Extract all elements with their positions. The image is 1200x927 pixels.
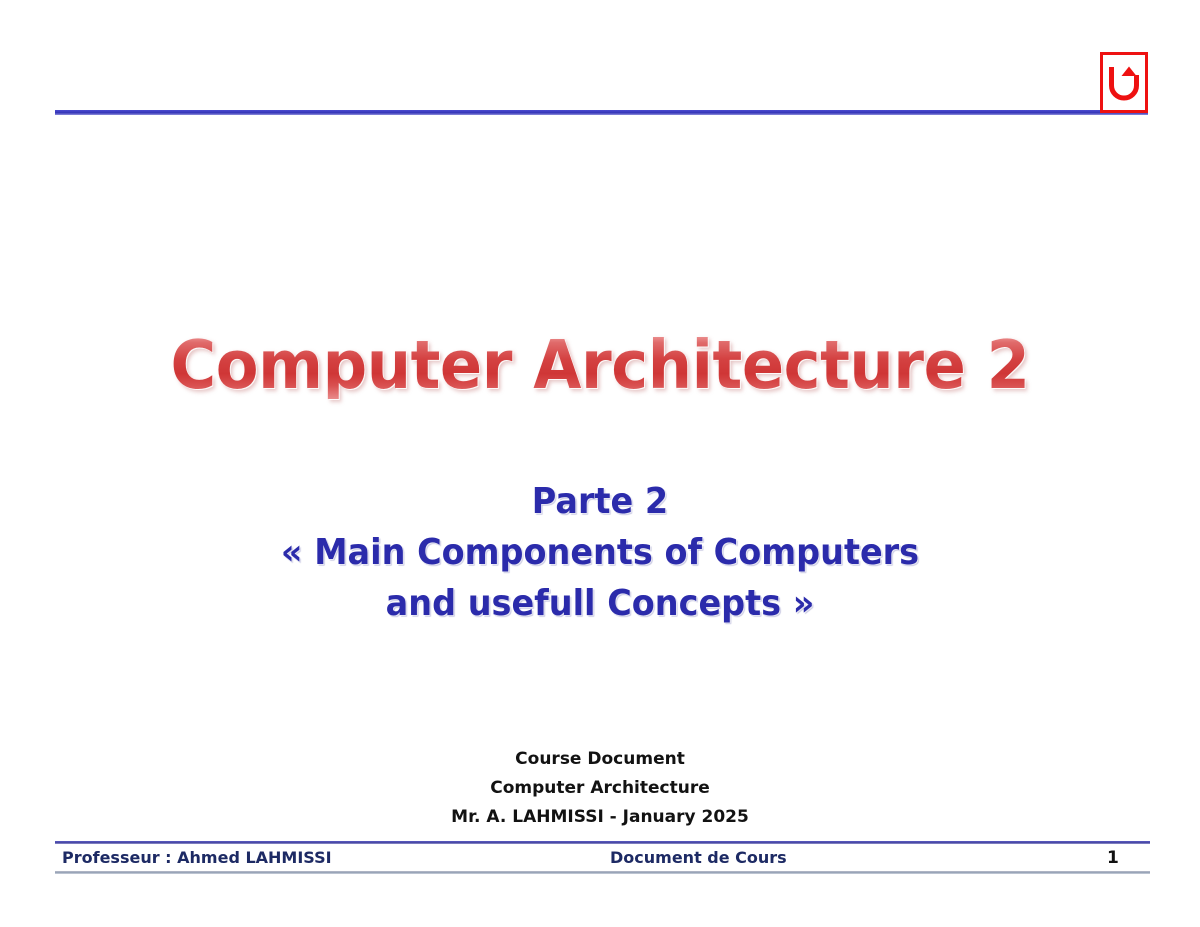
footer-professor-name: Professeur : Ahmed LAHMISSI bbox=[62, 846, 332, 870]
credits-block: Course Document Computer Architecture Mr… bbox=[0, 745, 1200, 832]
page-title: Computer Architecture 2 bbox=[42, 332, 1158, 399]
footer-page-number: 1 bbox=[1107, 846, 1119, 870]
subtitle-block: Parte 2 « Main Components of Computers a… bbox=[42, 476, 1158, 629]
subtitle-line-2: « Main Components of Computers bbox=[42, 527, 1158, 578]
footer-document-label: Document de Cours bbox=[610, 846, 787, 870]
credits-line-2: Computer Architecture bbox=[0, 774, 1200, 803]
footer-divider-top bbox=[55, 841, 1150, 844]
subtitle-line-3: and usefull Concepts » bbox=[42, 578, 1158, 629]
header-divider-rule bbox=[55, 110, 1148, 115]
subtitle-line-1: Parte 2 bbox=[42, 476, 1158, 527]
u-turn-arrow-icon bbox=[1108, 63, 1140, 103]
footer-divider-bottom bbox=[55, 871, 1150, 874]
credits-line-1: Course Document bbox=[0, 745, 1200, 774]
university-logo bbox=[1100, 52, 1148, 113]
credits-line-3: Mr. A. LAHMISSI - January 2025 bbox=[0, 803, 1200, 832]
slide-page: Computer Architecture 2 Parte 2 « Main C… bbox=[0, 0, 1200, 927]
